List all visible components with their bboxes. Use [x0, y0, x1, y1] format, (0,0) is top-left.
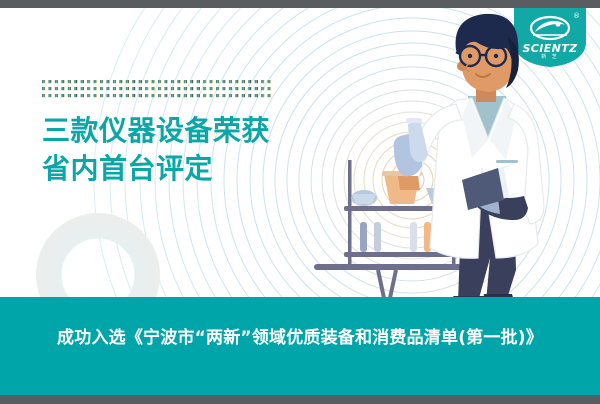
page-title: 三款仪器设备荣获 省内首台评定 [42, 112, 342, 188]
eye-right [494, 54, 498, 58]
headline-line-1: 三款仪器设备荣获 [42, 112, 342, 150]
lab-coat-scientist [394, 14, 544, 308]
banner-text: 成功入选《宁波市“两新”领域优质装备和消费品清单(第一批)》 [57, 323, 543, 348]
poster-canvas: 三款仪器设备荣获 省内首台评定 ® SCIENTZ 新 芝 [0, 8, 600, 395]
coat-pocket [496, 160, 518, 163]
bottom-chrome-bar [0, 395, 600, 404]
dot-grid-decoration [42, 78, 274, 100]
poster-root: 三款仪器设备荣获 省内首台评定 ® SCIENTZ 新 芝 [0, 0, 600, 404]
headline-line-2: 省内首台评定 [42, 150, 342, 188]
bottom-banner: 成功入选《宁波市“两新”领域优质装备和消费品清单(第一批)》 [0, 297, 600, 395]
eye-left [468, 54, 472, 58]
test-tube-rack [360, 222, 367, 252]
top-chrome-bar [0, 0, 600, 8]
scientist-illustration [300, 8, 600, 308]
forearm-skin [398, 176, 420, 190]
